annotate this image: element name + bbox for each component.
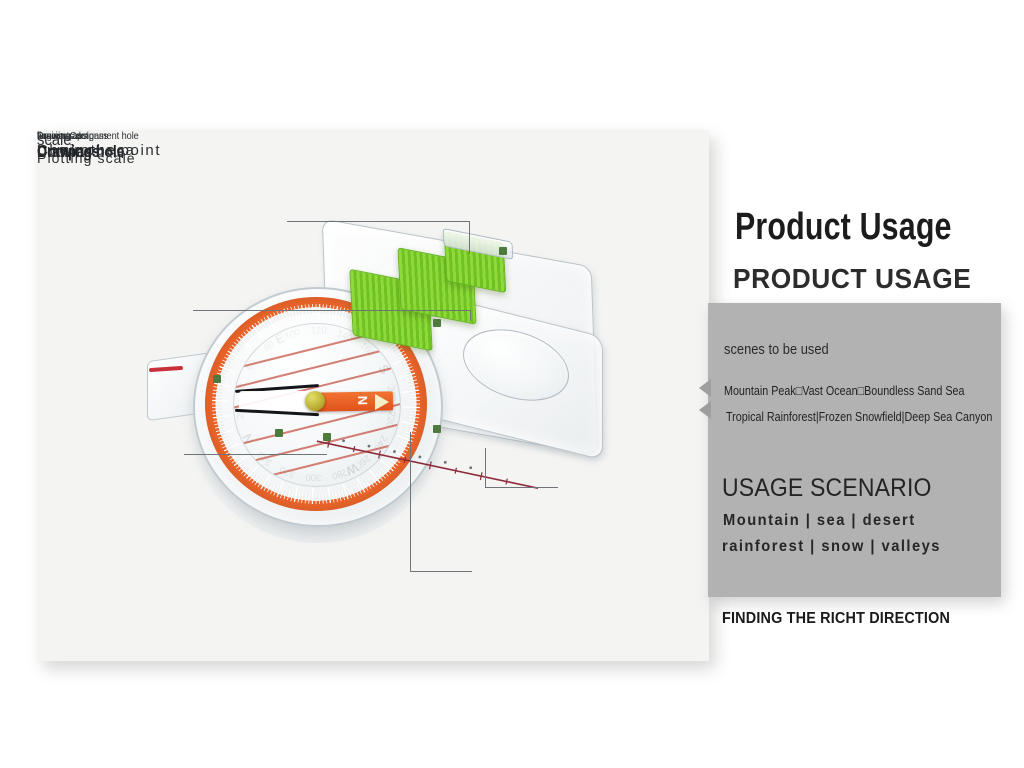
leader-line-finger-strap-v (469, 221, 470, 254)
scenes-heading: scenes to be used (724, 341, 829, 358)
leader-line-drawing-hole-h (193, 310, 470, 311)
callout-luminous-point: luminous dot Luminous point (37, 130, 161, 159)
compass-product-illustration: 2040608010012014016020022024026028030032… (147, 235, 667, 565)
callout-dot-finger-strap (499, 247, 507, 255)
footer-tagline: FINDING THE RICHT DIRECTION (722, 610, 950, 628)
scene-list-line-1: Mountain Peak□Vast Ocean□Boundless Sand … (724, 384, 964, 398)
needle-direction-arrow-icon (375, 394, 389, 410)
callout-dot-luminous-left (213, 375, 221, 383)
leader-line-finger-strap-h (287, 221, 469, 222)
usage-scenario-heading: USAGE SCENARIO (722, 474, 932, 503)
infographic-stage: 2040608010012014016020022024026028030032… (0, 0, 1024, 768)
leader-line-scale-v (485, 448, 486, 488)
leader-line-compass-h (184, 454, 327, 455)
leader-line-luminous-h (410, 571, 472, 572)
needle-pivot (305, 391, 325, 411)
callout-dot-magnifier (433, 425, 441, 433)
scenario-list-line-2: rainforest | snow | valleys (722, 538, 941, 556)
callout-dot-plotting-scale (323, 433, 331, 441)
callout-dot-drawing-hole (433, 319, 441, 327)
callout-big-label-luminous-point: Luminous point (37, 142, 161, 159)
callout-dot-luminous-center (275, 429, 283, 437)
leader-line-luminous-v (410, 432, 411, 572)
scene-list-line-2: Tropical Rainforest|Frozen Snowfield|Dee… (726, 410, 992, 424)
product-image-panel: 2040608010012014016020022024026028030032… (37, 130, 709, 661)
page-title: Product Usage (735, 206, 952, 249)
page-subtitle: PRODUCT USAGE (733, 263, 971, 295)
leader-line-scale-h (485, 487, 558, 488)
callout-small-label-luminous: luminous dot (37, 130, 146, 142)
leader-line-drawing-hole-v (470, 310, 471, 321)
scenario-list-line-1: Mountain | sea | desert (723, 512, 916, 530)
needle-north-letter: N (355, 396, 370, 406)
